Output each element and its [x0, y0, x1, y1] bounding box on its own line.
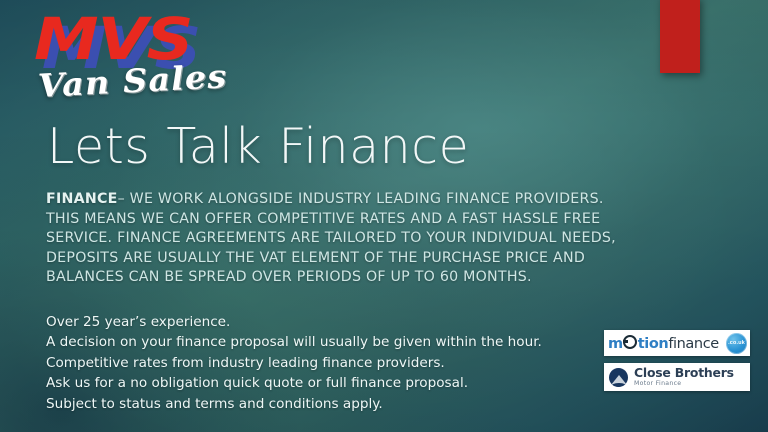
paragraph-line-2: THIS MEANS WE CAN OFFER COMPETITIVE RATE… [46, 210, 686, 230]
motion-finance-tion: tion [638, 336, 669, 352]
motion-finance-m: m [608, 336, 623, 352]
logo-script-text: Van Sales [37, 60, 228, 102]
paragraph-line-1: FINANCE– WE WORK ALONGSIDE INDUSTRY LEAD… [46, 190, 686, 210]
motion-finance-finance: finance [668, 336, 719, 352]
close-brothers-wordmark: Close Brothers Motor Finance [634, 367, 734, 388]
finance-paragraph: FINANCE– WE WORK ALONGSIDE INDUSTRY LEAD… [46, 190, 686, 288]
finance-benefits-list: Over 25 year’s experience. A decision on… [46, 312, 606, 414]
close-brothers-name: Close Brothers [634, 367, 734, 379]
motion-finance-logo: mtionfinance .co.uk [604, 330, 750, 356]
motion-finance-o-ring-icon [623, 335, 637, 349]
close-brothers-mountain-icon [609, 368, 628, 387]
list-item: Subject to status and terms and conditio… [46, 394, 606, 414]
paragraph-line-5: BALANCES CAN BE SPREAD OVER PERIODS OF U… [46, 268, 686, 288]
list-item: Over 25 year’s experience. [46, 312, 606, 332]
motion-finance-wordmark: mtionfinance [608, 335, 719, 352]
motion-finance-couk-badge: .co.uk [726, 333, 747, 354]
paragraph-line-3: SERVICE. FINANCE AGREEMENTS ARE TAILORED… [46, 229, 686, 249]
close-brothers-logo: Close Brothers Motor Finance [604, 363, 750, 391]
mvs-van-sales-logo: MVS Van Sales [18, 8, 238, 116]
presentation-slide: MVS Van Sales Lets Talk Finance FINANCE–… [0, 0, 768, 432]
close-brothers-subtitle: Motor Finance [634, 381, 734, 387]
red-accent-bar [660, 0, 700, 73]
paragraph-lead-word: FINANCE [46, 191, 118, 207]
list-item: Competitive rates from industry leading … [46, 353, 606, 373]
list-item: A decision on your finance proposal will… [46, 332, 606, 352]
list-item: Ask us for a no obligation quick quote o… [46, 373, 606, 393]
paragraph-line-1-rest: – WE WORK ALONGSIDE INDUSTRY LEADING FIN… [118, 191, 604, 207]
slide-title: Lets Talk Finance [47, 122, 469, 171]
paragraph-line-4: DEPOSITS ARE USUALLY THE VAT ELEMENT OF … [46, 249, 686, 269]
partner-logos: mtionfinance .co.uk Close Brothers Motor… [604, 330, 750, 391]
